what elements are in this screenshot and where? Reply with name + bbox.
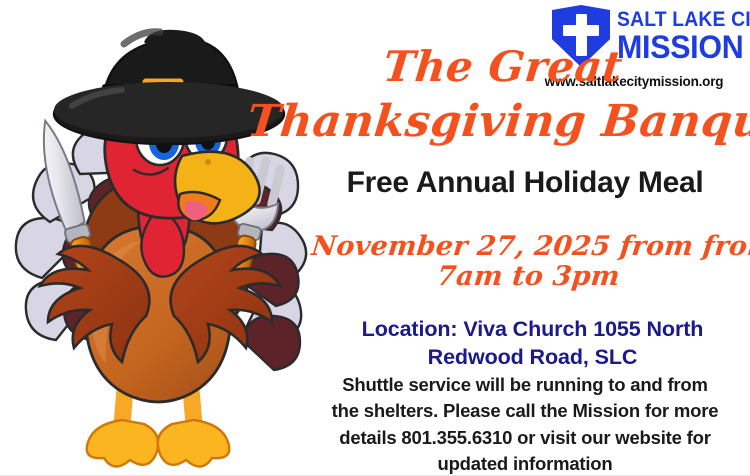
subtitle: Free Annual Holiday Meal — [300, 166, 750, 200]
note-line-4: updated information — [300, 451, 750, 476]
datetime-line-2: 7am to 3pm — [307, 262, 750, 292]
note-line-3: details 801.355.6310 or visit our websit… — [300, 425, 750, 451]
location-line-2: Redwood Road, SLC — [315, 344, 750, 372]
thanksgiving-banquet-flyer: SALT LAKE CITY MISSION www.saltlakecitym… — [0, 0, 750, 476]
note-line-1: Shuttle service will be running to and f… — [300, 372, 750, 398]
turkey-wattle — [141, 216, 184, 277]
datetime-line-1: November 27, 2025 from from — [310, 232, 750, 262]
headline-line-2: Thanksgiving Banquet — [244, 94, 750, 150]
event-datetime: November 27, 2025 from from 7am to 3pm — [307, 232, 750, 292]
event-location: Location: Viva Church 1055 North Redwood… — [315, 316, 750, 371]
headline-line-1: The Great — [250, 40, 750, 94]
location-line-1: Location: Viva Church 1055 North — [315, 316, 750, 344]
shuttle-note: Shuttle service will be running to and f… — [300, 372, 750, 476]
note-line-2: the shelters. Please call the Mission fo… — [300, 398, 750, 424]
logo-line-1: SALT LAKE CITY — [617, 9, 750, 30]
page-title: The Great Thanksgiving Banquet — [244, 40, 750, 150]
